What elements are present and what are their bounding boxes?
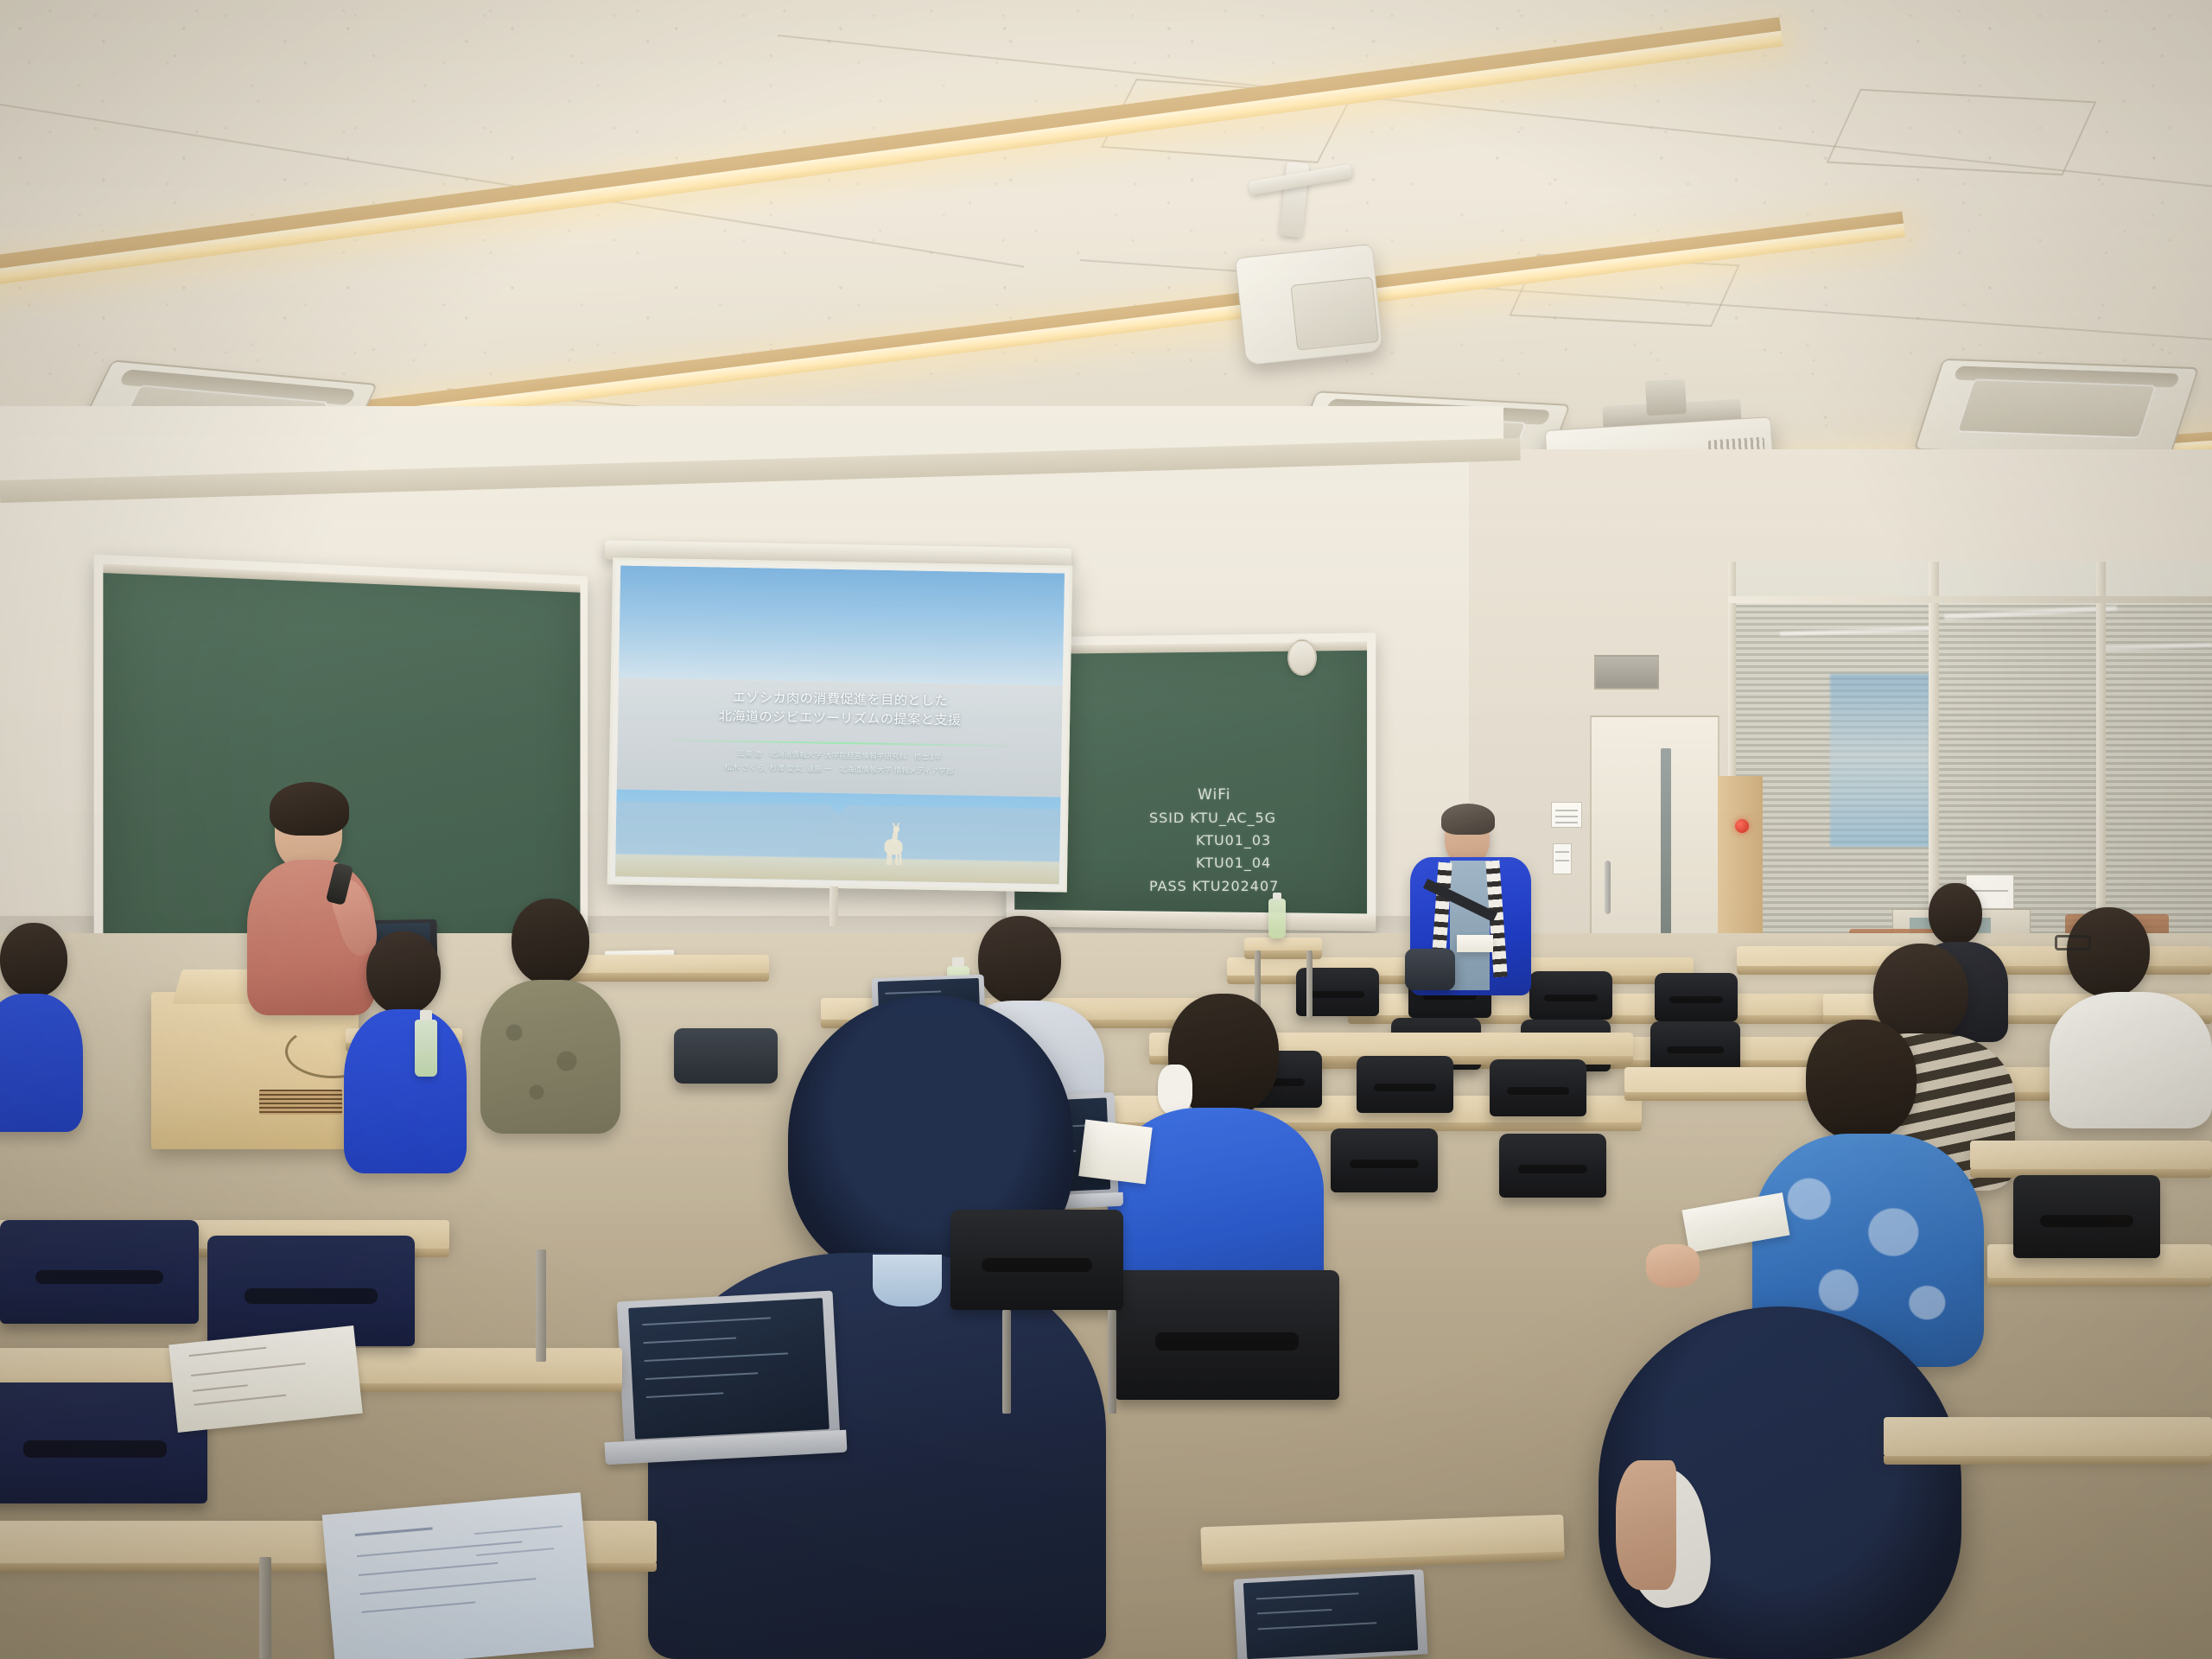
chair[interactable]: [1529, 971, 1612, 1020]
desk-leg: [536, 1249, 546, 1362]
water-bottle: [415, 1020, 437, 1077]
staff-shoulder-bag: [1405, 949, 1455, 990]
slide-sky-top: [619, 566, 1065, 686]
chalkboard-wifi-notes: WiFi SSID KTU_AC_5G KTU01_03 KTU01_04 PA…: [1149, 786, 1279, 894]
deer-illustration: [882, 823, 906, 866]
chair[interactable]: [950, 1210, 1123, 1310]
attendee-body: [2050, 992, 2212, 1128]
emergency-indicator-icon: [1735, 819, 1749, 833]
ceiling-access-panel: [1827, 89, 2097, 176]
side-table-leg: [1306, 950, 1313, 1018]
chalk-line-ssid: SSID KTU_AC_5G: [1149, 810, 1279, 826]
attendee-head: [978, 916, 1061, 1006]
door-notice-lower: [1553, 843, 1572, 874]
laptop[interactable]: [617, 1291, 840, 1447]
attendee-hand: [1646, 1244, 1700, 1287]
projection-screen: エゾシカ肉の消費促進を目的とした 北海道のジビエツーリズムの提案と支援 三浦 遼…: [607, 557, 1073, 892]
presenter-hair: [270, 782, 349, 836]
chair[interactable]: [1650, 1021, 1740, 1073]
attendee-head: [366, 931, 441, 1014]
chalk-line-ssid-3: KTU01_04: [1149, 855, 1279, 871]
door-transom-vent: [1594, 655, 1659, 690]
lecture-hall-photo: WiFi SSID KTU_AC_5G KTU01_03 KTU01_04 PA…: [0, 0, 2212, 1659]
shirt-collar: [873, 1255, 942, 1306]
program-booklet: [322, 1492, 594, 1659]
attendee-body: [0, 994, 83, 1132]
desk-foreground-right: [1884, 1417, 2212, 1457]
slide-title: エゾシカ肉の消費促進を目的とした 北海道のジビエツーリズムの提案と支援: [653, 688, 1027, 732]
attendee-head: [512, 899, 589, 985]
chair[interactable]: [1499, 1134, 1606, 1198]
chair[interactable]: [1357, 1056, 1453, 1113]
chair[interactable]: [0, 1220, 199, 1324]
attendee-head: [1806, 1020, 1916, 1141]
side-table: [1244, 938, 1322, 951]
backpack: [674, 1028, 778, 1084]
handout-paper: [1078, 1119, 1152, 1184]
water-bottle: [1268, 899, 1286, 938]
chair[interactable]: [1115, 1270, 1339, 1400]
chalk-line-pass: PASS KTU202407: [1149, 878, 1279, 894]
glasses-icon: [2055, 935, 2091, 950]
chair[interactable]: [1655, 973, 1738, 1021]
attendee-head: [1929, 883, 1982, 945]
attendee-head: [0, 923, 67, 997]
mountain-range: [615, 802, 1060, 861]
attendee-body: [344, 1009, 467, 1173]
staff-handout: [1457, 935, 1493, 952]
chair-leg: [1002, 1310, 1011, 1414]
staff-hair: [1441, 804, 1495, 835]
chair[interactable]: [1331, 1128, 1438, 1192]
screen-support-pole: [829, 887, 838, 926]
laptop[interactable]: [1234, 1569, 1428, 1659]
desk-leg: [259, 1557, 271, 1659]
chalk-line-ssid-2: KTU01_03: [1149, 832, 1279, 849]
chair[interactable]: [1490, 1059, 1586, 1116]
chair-leg: [1108, 1310, 1116, 1414]
wall-speaker: [1287, 639, 1317, 676]
door-notice-upper: [1551, 802, 1582, 828]
presentation-slide: エゾシカ肉の消費促進を目的とした 北海道のジビエツーリズムの提案と支援 三浦 遼…: [615, 566, 1065, 885]
chair[interactable]: [2013, 1175, 2160, 1258]
attendee-face: [1616, 1460, 1676, 1590]
attendee-head: [2067, 907, 2150, 997]
projector-mount-pole: [1645, 379, 1687, 416]
staff-inner-shirt: [1450, 861, 1490, 990]
face-mask: [1158, 1065, 1192, 1115]
ceiling-speaker: [1235, 244, 1383, 365]
ceiling-ac-unit: [1914, 359, 2200, 459]
shirt-pattern: [489, 994, 614, 1123]
chalk-line-wifi: WiFi: [1149, 786, 1279, 804]
slide-photo-band: [615, 790, 1061, 885]
desk-right: [1970, 1141, 2212, 1170]
